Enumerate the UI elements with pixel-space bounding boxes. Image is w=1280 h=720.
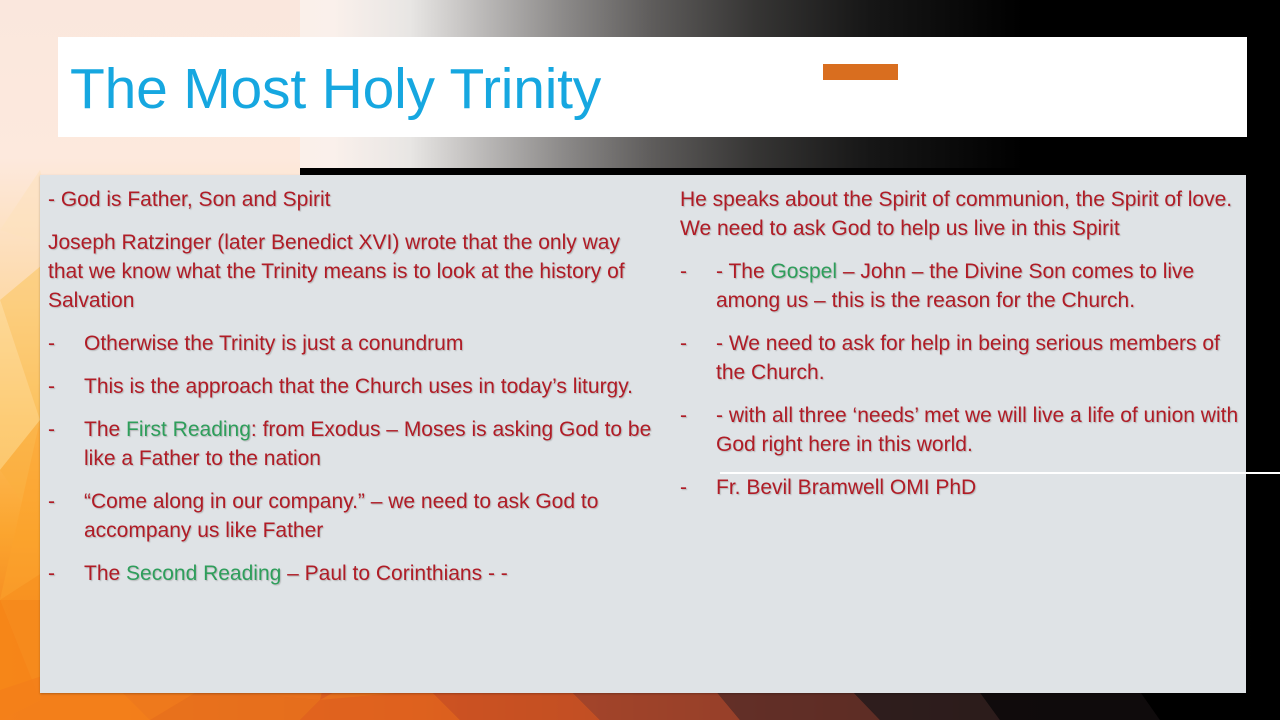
left-bullet-5-pre: The — [84, 562, 126, 585]
left-paragraph-1: - God is Father, Son and Spirit — [48, 185, 656, 214]
bullet-dash-icon: - — [680, 473, 716, 502]
left-bullet-3-text: The First Reading: from Exodus – Moses i… — [84, 415, 656, 473]
left-bullet-2-text: This is the approach that the Church use… — [84, 372, 656, 401]
right-bullet-2-text: - We need to ask for help in being serio… — [716, 329, 1246, 387]
left-bullet-5: - The Second Reading – Paul to Corinthia… — [48, 559, 656, 588]
bullet-dash-icon: - — [680, 329, 716, 387]
left-paragraph-2: Joseph Ratzinger (later Benedict XVI) wr… — [48, 228, 656, 315]
left-bullet-3: - The First Reading: from Exodus – Moses… — [48, 415, 656, 473]
content-panel: - God is Father, Son and Spirit Joseph R… — [40, 175, 1246, 693]
right-bullet-1: - - The Gospel – John – the Divine Son c… — [680, 257, 1246, 315]
left-bullet-4-text: “Come along in our company.” – we need t… — [84, 487, 656, 545]
bullet-dash-icon: - — [48, 329, 84, 358]
right-text-column: He speaks about the Spirit of communion,… — [680, 185, 1246, 516]
page-title: The Most Holy Trinity — [70, 57, 601, 121]
left-bullet-3-highlight: First Reading — [126, 418, 251, 441]
slide-canvas: The Most Holy Trinity - God is Father, S… — [0, 0, 1280, 720]
left-bullet-5-post: – Paul to Corinthians - - — [281, 562, 507, 585]
bullet-dash-icon: - — [680, 257, 716, 315]
left-bullet-2: - This is the approach that the Church u… — [48, 372, 656, 401]
left-bullet-1: - Otherwise the Trinity is just a conund… — [48, 329, 656, 358]
right-bullet-1-highlight: Gospel — [770, 260, 837, 283]
left-bullet-4: - “Come along in our company.” – we need… — [48, 487, 656, 545]
right-paragraph-1: He speaks about the Spirit of communion,… — [680, 185, 1246, 243]
left-bullet-1-text: Otherwise the Trinity is just a conundru… — [84, 329, 656, 358]
left-bullet-5-text: The Second Reading – Paul to Corinthians… — [84, 559, 656, 588]
bullet-dash-icon: - — [48, 372, 84, 401]
right-bullet-1-text: - The Gospel – John – the Divine Son com… — [716, 257, 1246, 315]
right-bullet-4-signature: Fr. Bevil Bramwell OMI PhD — [716, 473, 1246, 502]
right-bullet-1-pre: - The — [716, 260, 770, 283]
right-bullet-3-text: - with all three ‘needs’ met we will liv… — [716, 401, 1246, 459]
orange-accent-bar — [823, 64, 898, 80]
left-text-column: - God is Father, Son and Spirit Joseph R… — [48, 185, 656, 602]
bullet-dash-icon: - — [48, 415, 84, 473]
bullet-dash-icon: - — [48, 559, 84, 588]
left-bullet-3-pre: The — [84, 418, 126, 441]
right-bullet-2: - - We need to ask for help in being ser… — [680, 329, 1246, 387]
right-bullet-4: - Fr. Bevil Bramwell OMI PhD — [680, 473, 1246, 502]
right-bullet-3: - - with all three ‘needs’ met we will l… — [680, 401, 1246, 459]
left-bullet-5-highlight: Second Reading — [126, 562, 281, 585]
bullet-dash-icon: - — [48, 487, 84, 545]
bullet-dash-icon: - — [680, 401, 716, 459]
